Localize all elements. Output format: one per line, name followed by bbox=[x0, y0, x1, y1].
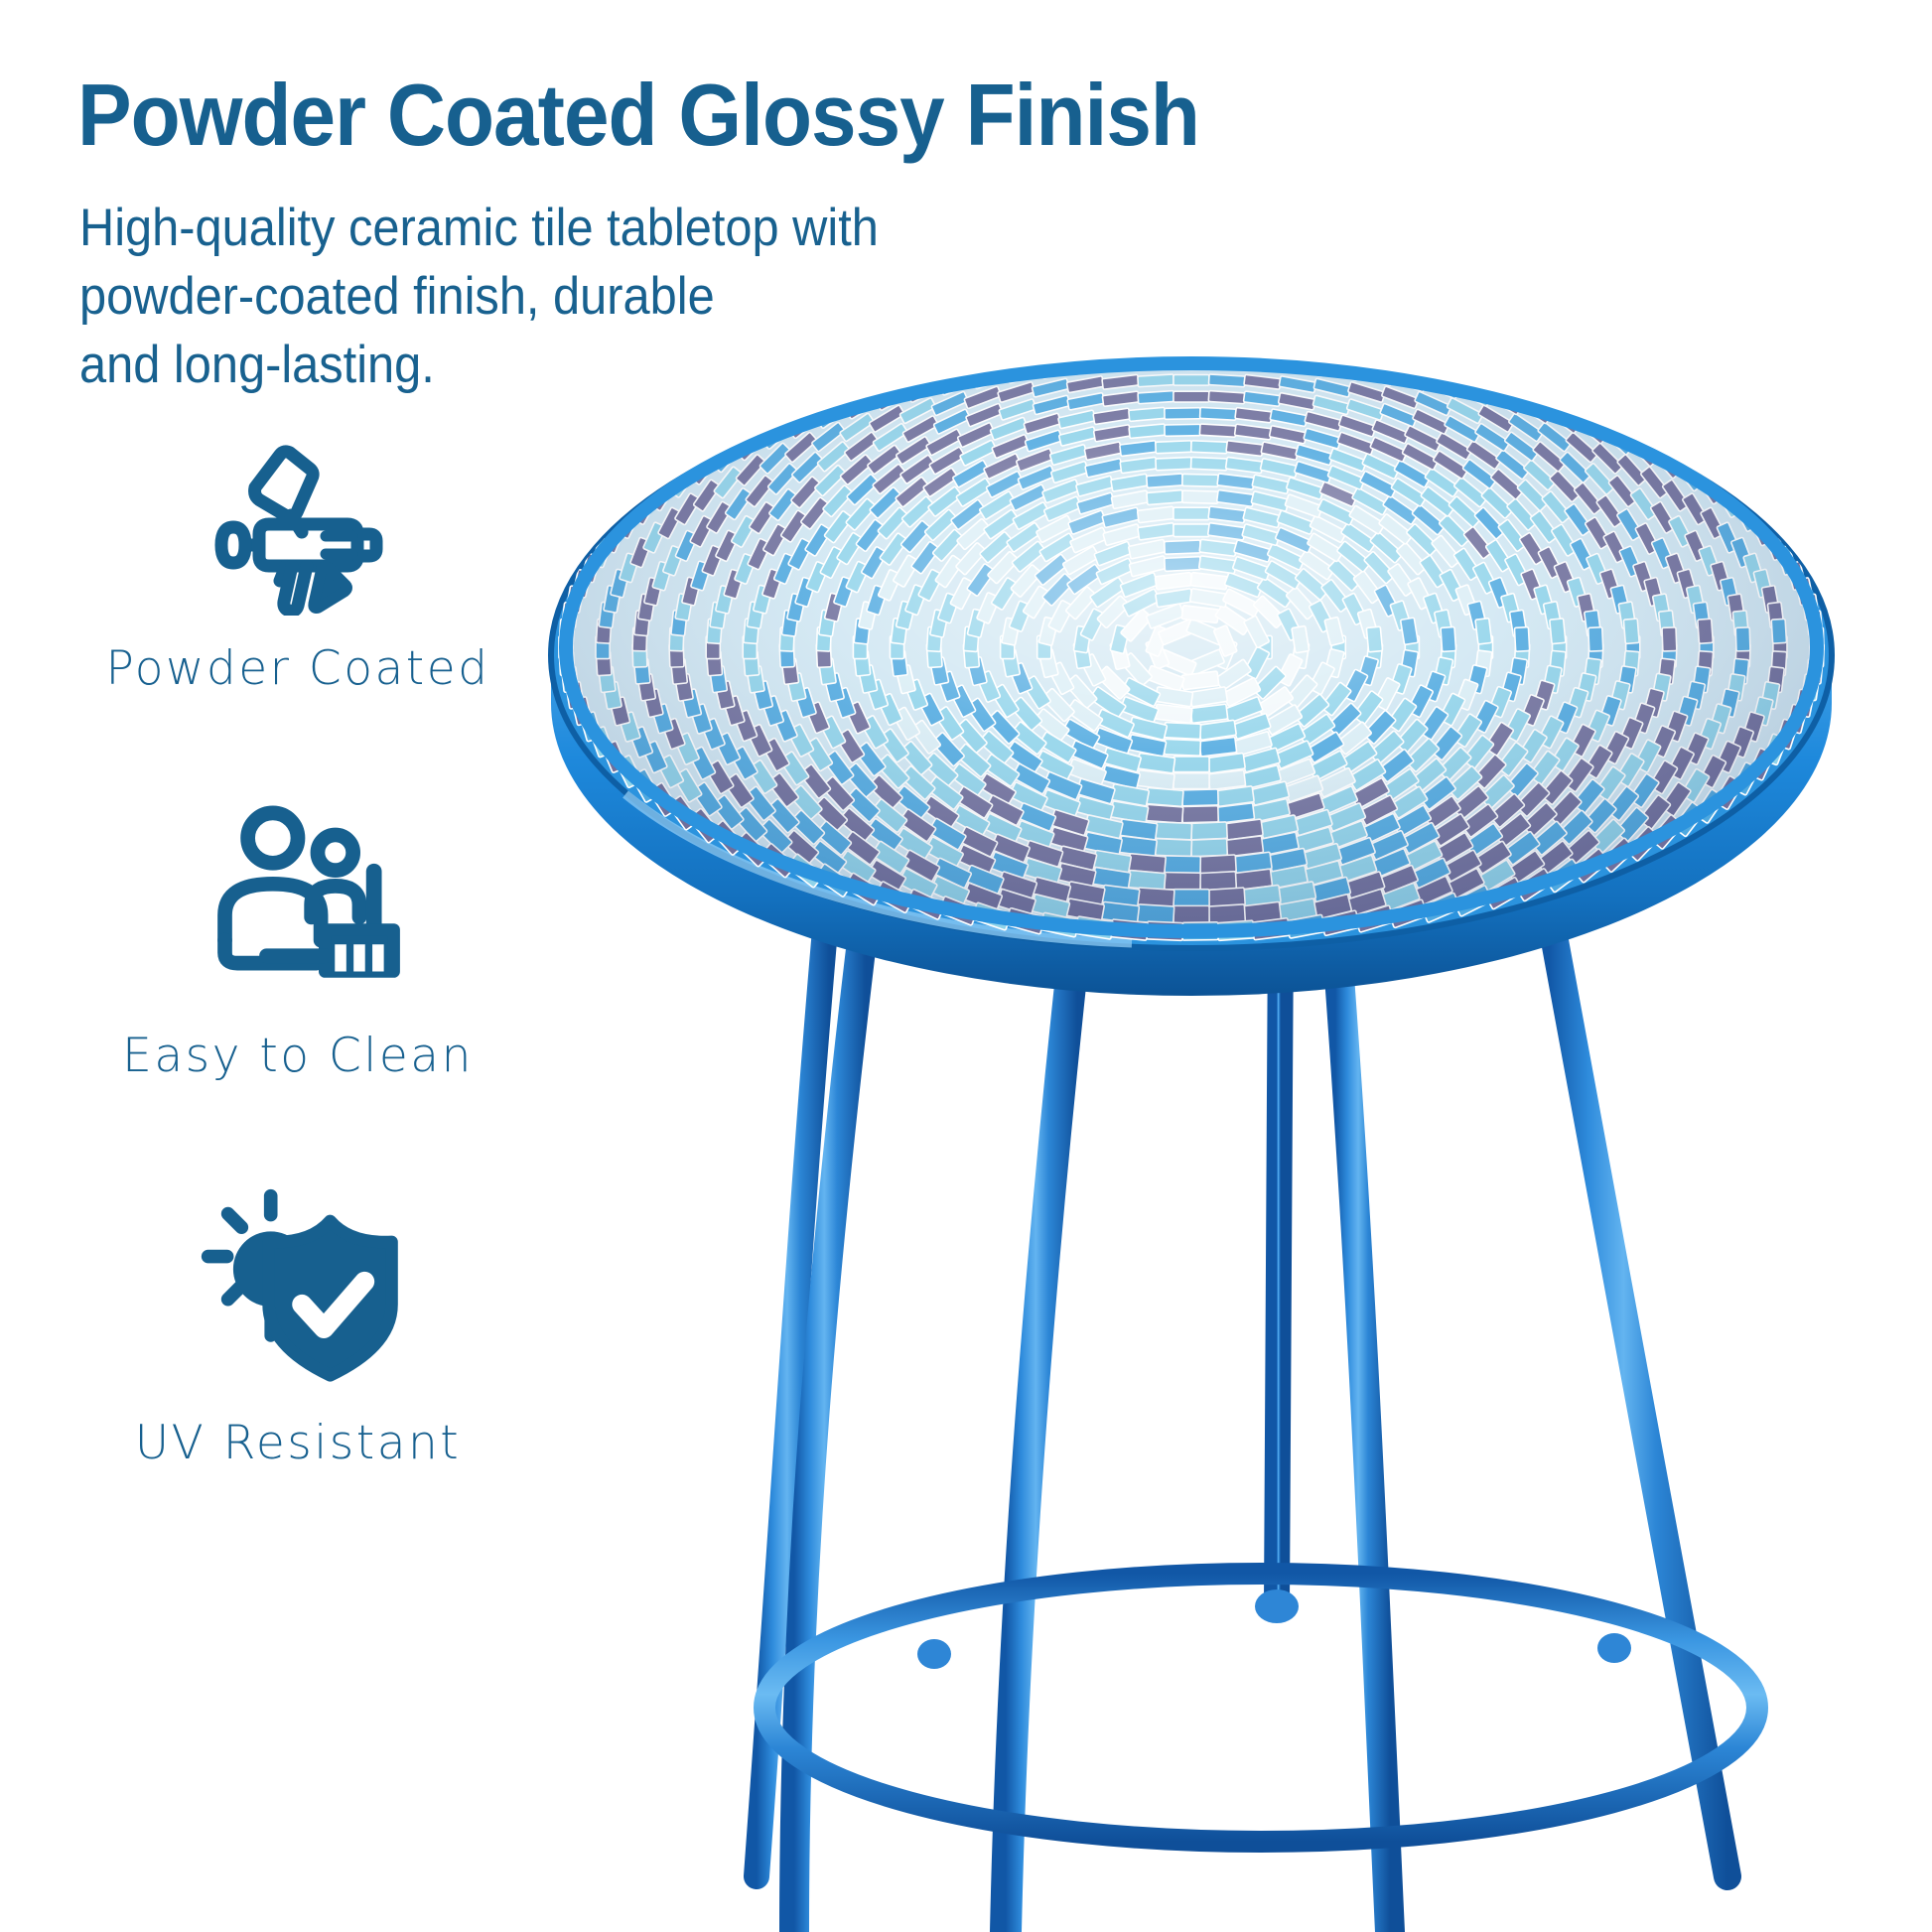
feature-label-uv-resistant: UV Resistant bbox=[135, 1416, 461, 1470]
bottom-stretcher-ring bbox=[764, 1574, 1757, 1842]
feature-item-powder-coated: Powder Coated bbox=[60, 417, 536, 696]
product-image-mosaic-bistro-table bbox=[496, 328, 1932, 1932]
table-legs bbox=[757, 884, 1727, 1932]
feature-item-uv-resistant: UV Resistant bbox=[60, 1181, 536, 1470]
cleaning-person-brush-icon bbox=[194, 794, 402, 1003]
page-title: Powder Coated Glossy Finish bbox=[77, 71, 1199, 159]
sun-shield-check-icon bbox=[194, 1181, 402, 1390]
spray-gun-icon bbox=[194, 417, 402, 616]
feature-label-powder-coated: Powder Coated bbox=[106, 641, 490, 696]
feature-item-easy-to-clean: Easy to Clean bbox=[60, 794, 536, 1083]
product-feature-infographic: Powder Coated Glossy Finish High-quality… bbox=[0, 0, 1932, 1932]
feature-label-easy-to-clean: Easy to Clean bbox=[122, 1029, 474, 1083]
